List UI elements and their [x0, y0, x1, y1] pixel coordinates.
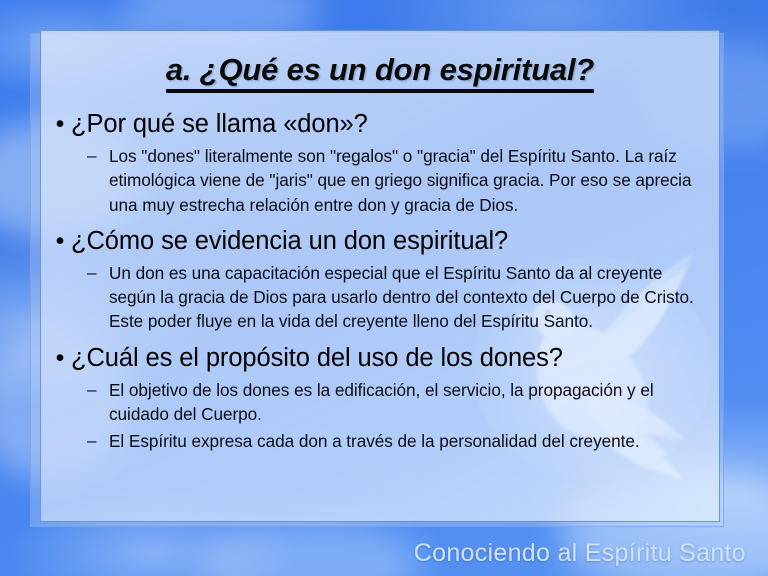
bullet-level2-text: Un don es una capacitación especial que … — [109, 261, 701, 334]
bullet-level2-text: Los "dones" literalmente son "regalos" o… — [109, 144, 701, 217]
bullet-level2: –El objetivo de los dones es la edificac… — [41, 376, 719, 428]
slide-title: a. ¿Qué es un don espiritual? — [41, 31, 719, 93]
sub-bullet-marker-icon: – — [87, 429, 109, 453]
bullet-marker-icon: • — [49, 343, 71, 373]
presentation-slide: a. ¿Qué es un don espiritual? •¿Por qué … — [0, 0, 768, 576]
bullet-level2: –El Espíritu expresa cada don a través d… — [41, 427, 719, 454]
slide-title-text: a. ¿Qué es un don espiritual? — [166, 52, 594, 93]
sub-bullet-marker-icon: – — [87, 261, 109, 285]
slide-footer: Conociendo al Espíritu Santo — [414, 539, 746, 568]
slide-body: •¿Por qué se llama «don»?–Los "dones" li… — [41, 93, 719, 455]
content-panel: a. ¿Qué es un don espiritual? •¿Por qué … — [40, 30, 720, 522]
cloud-decoration — [200, 520, 420, 576]
bullet-group: •¿Por qué se llama «don»?–Los "dones" li… — [41, 103, 719, 218]
bullet-marker-icon: • — [49, 226, 71, 256]
bullet-level1: •¿Por qué se llama «don»? — [41, 103, 719, 142]
bullet-level2: –Un don es una capacitación especial que… — [41, 259, 719, 335]
sub-bullet-marker-icon: – — [87, 144, 109, 168]
bullet-level1: •¿Cuál es el propósito del uso de los do… — [41, 337, 719, 376]
bullet-level2-text: El Espíritu expresa cada don a través de… — [109, 429, 640, 453]
bullet-marker-icon: • — [49, 109, 71, 139]
sub-bullet-marker-icon: – — [87, 378, 109, 402]
bullet-level2: –Los "dones" literalmente son "regalos" … — [41, 142, 719, 218]
bullet-level1-text: ¿Cómo se evidencia un don espiritual? — [71, 226, 508, 257]
bullet-level1: •¿Cómo se evidencia un don espiritual? — [41, 220, 719, 259]
bullet-group: •¿Cómo se evidencia un don espiritual?–U… — [41, 220, 719, 335]
bullet-level2-text: El objetivo de los dones es la edificaci… — [109, 378, 701, 427]
bullet-group: •¿Cuál es el propósito del uso de los do… — [41, 337, 719, 455]
bullet-level1-text: ¿Por qué se llama «don»? — [71, 109, 368, 140]
bullet-level1-text: ¿Cuál es el propósito del uso de los don… — [71, 343, 563, 374]
